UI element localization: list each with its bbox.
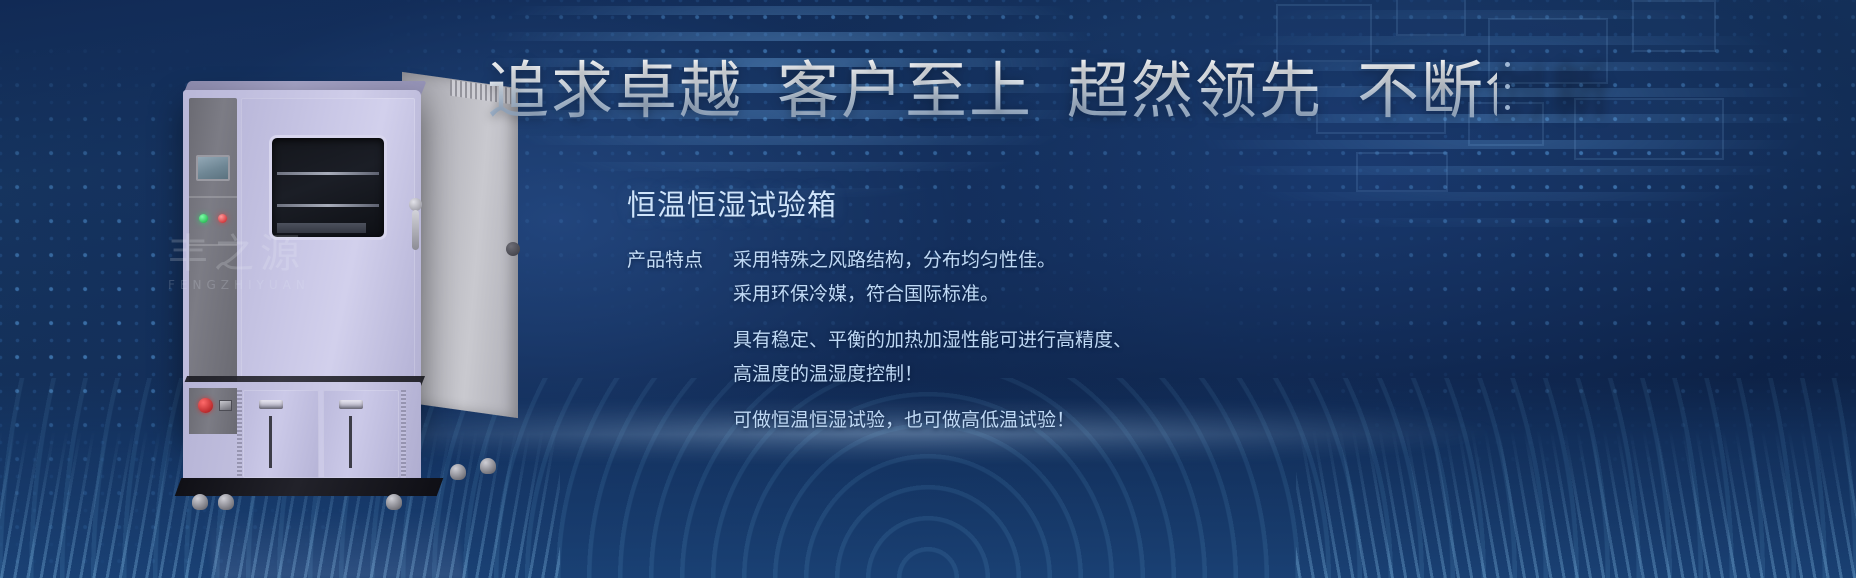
indicator-lamp-green <box>199 214 208 223</box>
dash-pattern-background <box>430 0 1150 280</box>
leveling-foot <box>218 494 234 510</box>
feature-text: 具有稳定、平衡的加热加湿性能可进行高精度、 <box>733 323 1267 357</box>
feature-text: 可做恒温恒湿试验，也可做高低温试验！ <box>733 403 1267 437</box>
cabinet-vent-left <box>237 390 242 478</box>
dot <box>1505 84 1510 89</box>
meter-display <box>219 400 232 411</box>
feature-text: 采用特殊之风路结构，分布均匀性佳。 <box>733 243 1267 277</box>
chamber-shelf <box>277 204 379 207</box>
test-chamber-image <box>150 58 510 488</box>
feature-list: 产品特点 采用特殊之风路结构，分布均匀性佳。 采用环保冷媒，符合国际标准。 具有… <box>627 243 1267 437</box>
chamber-floor <box>277 223 366 233</box>
feature-row-5: 可做恒温恒湿试验，也可做高低温试验！ <box>627 403 1267 437</box>
floor-reflection <box>205 510 465 578</box>
lower-door-slot <box>269 416 272 468</box>
leveling-foot <box>386 494 402 510</box>
leveling-foot <box>480 458 496 474</box>
chamber-shelf <box>277 172 379 175</box>
lower-door-left <box>243 390 319 478</box>
headline: 追求卓越 客户至上 超然领先 不断创新 <box>487 55 1497 127</box>
feature-row-2: 采用环保冷媒，符合国际标准。 <box>627 277 1267 311</box>
lower-door-handle <box>339 400 363 409</box>
panel-divider <box>189 196 237 198</box>
feature-row-3: 具有稳定、平衡的加热加湿性能可进行高精度、 <box>627 323 1267 357</box>
dot <box>1505 105 1510 110</box>
chamber-plinth <box>175 478 444 496</box>
feature-row-4: 高温度的温湿度控制！ <box>627 357 1267 391</box>
control-panel <box>189 98 237 386</box>
dot <box>1505 62 1510 67</box>
chamber-door <box>241 98 415 386</box>
emergency-stop-button <box>198 398 213 413</box>
leveling-foot <box>192 494 208 510</box>
feature-row-1: 产品特点 采用特殊之风路结构，分布均匀性佳。 <box>627 243 1267 277</box>
features-label: 产品特点 <box>627 243 733 277</box>
indicator-lamp-red <box>218 214 227 223</box>
feature-text: 高温度的温湿度控制！ <box>733 357 1267 391</box>
headline-word-4: 不断创新 <box>1357 60 1613 122</box>
lower-door-right <box>323 390 399 478</box>
lower-door-handle <box>259 400 283 409</box>
panel-divider-lower <box>189 244 237 246</box>
lower-door-slot <box>349 416 352 468</box>
product-banner: 丰之源 FENGZHIYUAN 追求卓越 客户至上 超然领先 不断创新 恒温恒湿… <box>0 0 1856 578</box>
headline-word-2: 客户至上 <box>777 60 1033 122</box>
door-handle <box>412 210 419 250</box>
headline-word-1: 追求卓越 <box>487 60 743 122</box>
lower-cabinet <box>183 382 421 486</box>
lower-control-panel <box>189 388 237 434</box>
headline-word-3: 超然领先 <box>1067 60 1323 122</box>
cabinet-vent-right <box>401 390 406 478</box>
rear-knob <box>506 242 520 256</box>
hatch-right <box>1296 428 1856 578</box>
observation-window <box>269 135 387 240</box>
product-subtitle: 恒温恒湿试验箱 <box>627 182 837 224</box>
decorative-dots <box>1500 62 1514 110</box>
lcd-display <box>196 155 230 181</box>
feature-text: 采用环保冷媒，符合国际标准。 <box>733 277 1267 311</box>
leveling-foot <box>450 464 466 480</box>
